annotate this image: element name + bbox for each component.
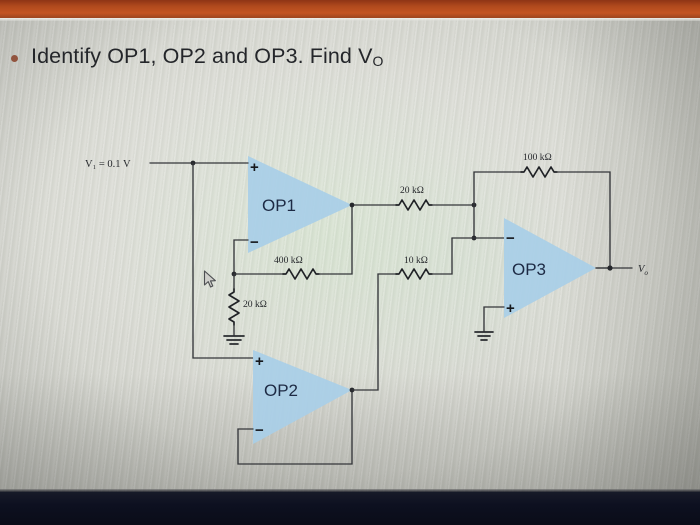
wire-v1-to-op2-plus <box>193 163 253 358</box>
wire-op2-out-to-r10k <box>352 274 396 390</box>
node-op1-output <box>350 203 355 208</box>
r-20k-series-label: 20 kΩ <box>400 185 424 196</box>
source-label: V₁ = 0.1 V <box>85 159 131 170</box>
ground-op3-noninverting-icon <box>475 332 493 340</box>
output-label: Vo <box>638 264 648 277</box>
op3-minus-pin: − <box>506 230 515 247</box>
op1-plus-pin: + <box>250 159 259 176</box>
op3-label: OP3 <box>512 260 546 279</box>
r-20k-ground-label: 20 kΩ <box>243 299 267 310</box>
wire-r10k-to-summing <box>432 238 452 274</box>
r-100k-label: 100 kΩ <box>523 152 552 163</box>
node-op3-output <box>607 265 612 270</box>
op2-label: OP2 <box>264 381 298 400</box>
arrow-cursor <box>203 270 219 290</box>
ground-op1-divider-icon <box>224 336 244 344</box>
output-label-sub: o <box>644 269 648 277</box>
wire-op3-plus-to-ground <box>484 307 504 332</box>
r-400k-label: 400 kΩ <box>274 255 303 266</box>
bottom-dark-strip <box>0 492 700 525</box>
op1-label: OP1 <box>262 196 296 215</box>
wire-summing-to-r100k <box>474 172 521 205</box>
r-400k-symbol <box>283 269 319 279</box>
op3-plus-pin: + <box>506 300 515 317</box>
r-10k-series-label: 10 kΩ <box>404 255 428 266</box>
op2-plus-pin: + <box>255 353 264 370</box>
r-20k-series-symbol <box>396 200 432 210</box>
r-10k-series-symbol <box>396 269 432 279</box>
circuit-diagram: OP1 + − 20 kΩ 400 kΩ 20 kΩ <box>0 0 700 525</box>
op1-minus-pin: − <box>250 234 259 251</box>
r-100k-symbol <box>521 167 557 177</box>
r-20k-ground-symbol <box>229 289 239 325</box>
op2-minus-pin: − <box>255 422 264 439</box>
wire-op1-minus-lead <box>234 240 248 274</box>
screenshot-canvas: Identify OP1, OP2 and OP3. Find VO OP1 +… <box>0 0 700 525</box>
